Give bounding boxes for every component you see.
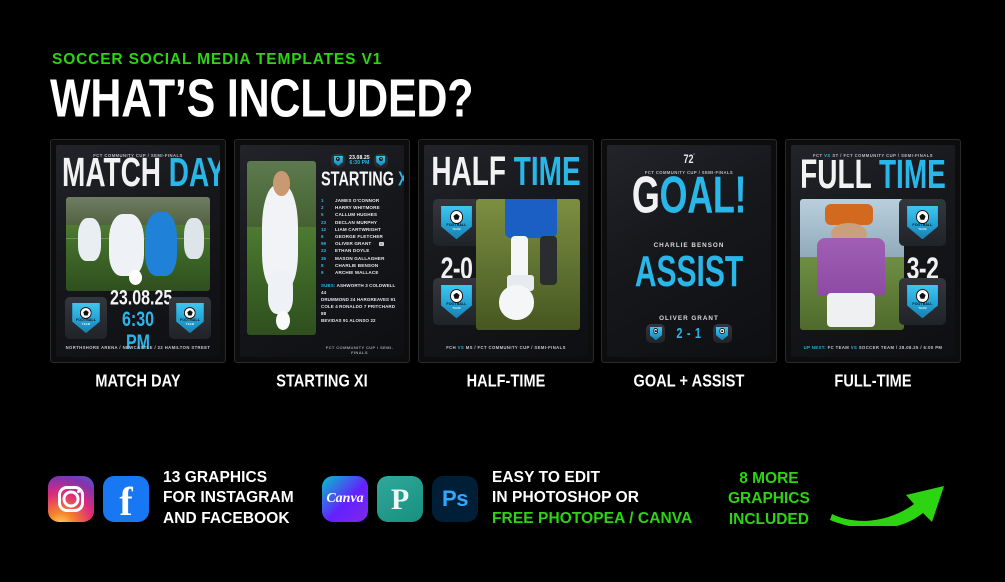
- list-item: 6GEORGE FLETCHER: [321, 233, 398, 240]
- bonus-line-3: INCLUDED: [728, 510, 810, 530]
- card1-title-white: MATCH: [62, 150, 161, 195]
- photoshop-icon[interactable]: Ps: [432, 476, 478, 522]
- card5-badge-home: FOOTBALL TEAM: [899, 199, 946, 246]
- player-number: 12: [321, 227, 330, 232]
- player-number: 8: [321, 263, 330, 268]
- curved-arrow-icon: [828, 468, 948, 531]
- list-item: 2HARRY WHITMORE: [321, 204, 398, 211]
- card-inner: HALF TIME FOOTBALL TEAM 2-0 FOOTBALL TEA…: [424, 145, 588, 357]
- player-name: MASON GALLAGHER: [335, 256, 385, 261]
- card4-goal-blue: OAL!: [660, 165, 747, 224]
- template-card-starting-xi[interactable]: 23.08.25 6:30 PM STARTING XI 1JAMES O’CO…: [234, 139, 410, 363]
- card2-header: 23.08.25 6:30 PM: [321, 153, 398, 169]
- badge-word2: TEAM: [904, 228, 941, 231]
- badge-word2: TEAM: [438, 228, 475, 231]
- card4-badge-away: [713, 324, 732, 343]
- player-name: JAMES O’CONNOR: [335, 198, 379, 203]
- card2-title-white: STARTING: [321, 169, 394, 191]
- card2-time: 6:30 PM: [349, 161, 370, 166]
- list-item: 23DECLAN MURPHY: [321, 219, 398, 226]
- card2-title: STARTING XI: [321, 169, 398, 191]
- card4-assist-text: ASSIST: [635, 248, 743, 296]
- card4-goal-white: G: [632, 165, 660, 224]
- footer-group-bonus: 8 MORE GRAPHICS INCLUDED: [728, 468, 948, 531]
- instagram-icon[interactable]: [48, 476, 94, 522]
- list-item: 12LIAM CARTWRIGHT: [321, 226, 398, 233]
- template-card-full-time[interactable]: FCT VS ST / FCT COMMUNITY CUP / SEMI-FIN…: [785, 139, 961, 363]
- photoshop-label: Ps: [442, 486, 468, 512]
- player-name: OLIVER GRANT: [335, 241, 371, 246]
- card1-date: 23.08.25: [110, 288, 166, 310]
- caption-row: MATCH DAY STARTING XI HALF-TIME GOAL + A…: [50, 374, 970, 396]
- caption-half-time: HALF-TIME: [418, 373, 594, 392]
- card-inner: FCT COMMUNITY CUP / SEMI-FINALS MATCH DA…: [56, 145, 220, 357]
- footer-group-social: f 13 GRAPHICS FOR INSTAGRAM AND FACEBOOK: [48, 468, 294, 529]
- card3-title: HALF TIME: [430, 156, 582, 189]
- card4-goal-title: GOAL!: [613, 173, 765, 216]
- card1-badge-left: FOOTBALL TEAM: [65, 297, 107, 339]
- badge-word: FOOTBALL: [904, 302, 941, 306]
- player-name: ETHAN DOYLE: [335, 248, 369, 253]
- badge-word: FOOTBALL: [174, 318, 207, 322]
- player-number: 35: [321, 256, 330, 261]
- subs-line: DRUMMOND 24 HARGREAVES 91: [321, 297, 396, 302]
- card5-footer: UP NEXT: FC TEAM VS SOCCER TEAM / 28.08.…: [791, 345, 955, 350]
- player-name: DECLAN MURPHY: [335, 220, 377, 225]
- card2-badge-left: [331, 154, 345, 168]
- player-number: 5: [321, 212, 330, 217]
- card2-title-blue: XI: [398, 169, 404, 191]
- player-number: 2: [321, 205, 330, 210]
- card5-title-blue: TIME: [879, 152, 946, 197]
- player-name: CALLUM HUGHES: [335, 212, 377, 217]
- card5-title-white: FULL: [800, 152, 871, 197]
- card1-title: MATCH DAY: [62, 157, 214, 190]
- player-number: 1: [321, 198, 330, 203]
- page-title: WHAT’S INCLUDED?: [50, 70, 473, 128]
- player-number: 99: [321, 241, 330, 246]
- card5-title: FULL TIME: [797, 159, 949, 192]
- card2-datetime: 23.08.25 6:30 PM: [349, 156, 370, 167]
- card3-badge-home: FOOTBALL TEAM: [433, 199, 480, 246]
- bonus-line-2: GRAPHICS: [728, 489, 810, 509]
- caption-match-day: MATCH DAY: [50, 373, 226, 392]
- list-item: 9ARCHIE WALLACE: [321, 269, 398, 276]
- player-name: CHARLIE BENSON: [335, 263, 378, 268]
- list-item: 23ETHAN DOYLE: [321, 247, 398, 254]
- card1-badge-right: FOOTBALL TEAM: [169, 297, 211, 339]
- footer-row: f 13 GRAPHICS FOR INSTAGRAM AND FACEBOOK…: [0, 460, 1005, 540]
- card5-footer-vs: VS: [851, 345, 857, 350]
- badge-word: FOOTBALL: [904, 223, 941, 227]
- player-number: 23: [321, 248, 330, 253]
- card5-footer-pre: FC TEAM: [828, 345, 850, 350]
- facebook-icon[interactable]: f: [103, 476, 149, 522]
- card3-footer-pre: FCH: [446, 345, 456, 350]
- card3-title-blue: TIME: [514, 149, 581, 194]
- card2-photo: [247, 161, 316, 335]
- caption-starting-xi: STARTING XI: [234, 373, 410, 392]
- card2-subs: SUBS: ASHWORTH 3 COLDWELL 44 DRUMMOND 24…: [321, 283, 398, 325]
- canva-label: Canva: [326, 491, 363, 507]
- editors-line-1: EASY TO EDIT: [492, 468, 692, 488]
- list-item: 1JAMES O’CONNOR: [321, 197, 398, 204]
- badge-word: FOOTBALL: [70, 318, 103, 322]
- card4-score: 2 - 1: [676, 326, 701, 342]
- template-card-half-time[interactable]: HALF TIME FOOTBALL TEAM 2-0 FOOTBALL TEA…: [418, 139, 594, 363]
- list-item: 35MASON GALLAGHER: [321, 255, 398, 262]
- card3-title-white: HALF: [431, 149, 506, 194]
- subs-line: BEVIDAS 91 ALONSO 22: [321, 318, 376, 323]
- card3-photo: [476, 199, 580, 330]
- caption-goal-assist: GOAL + ASSIST: [601, 373, 777, 392]
- badge-word2: TEAM: [904, 307, 941, 310]
- template-card-goal-assist[interactable]: 72′ FCT COMMUNITY CUP / SEMI-FINALS GOAL…: [601, 139, 777, 363]
- card4-assister: OLIVER GRANT: [607, 315, 771, 322]
- player-number: 9: [321, 270, 330, 275]
- template-card-match-day[interactable]: FCT COMMUNITY CUP / SEMI-FINALS MATCH DA…: [50, 139, 226, 363]
- template-card-row: FCT COMMUNITY CUP / SEMI-FINALS MATCH DA…: [50, 139, 970, 363]
- list-item: 5CALLUM HUGHES: [321, 211, 398, 218]
- card5-badge-away: FOOTBALL TEAM: [899, 278, 946, 325]
- card1-title-blue: DAY: [169, 150, 220, 195]
- card5-footer-post: SOCCER TEAM / 28.08.25 / 6:00 PM: [859, 345, 943, 350]
- social-line-3: AND FACEBOOK: [163, 509, 294, 529]
- card4-badge-home: [646, 324, 665, 343]
- card3-footer: FCH VS MS / FCT COMMUNITY CUP / SEMI-FIN…: [424, 345, 588, 350]
- badge-word: FOOTBALL: [438, 223, 475, 227]
- photopea-icon[interactable]: P: [377, 476, 423, 522]
- photopea-label: P: [391, 485, 409, 515]
- card-inner: FCT VS ST / FCT COMMUNITY CUP / SEMI-FIN…: [791, 145, 955, 357]
- editors-line-3: FREE PHOTOPEA / CANVA: [492, 509, 692, 529]
- card1-photo: [66, 197, 210, 291]
- list-item: 99OLIVER GRANTC: [321, 240, 398, 247]
- card1-footer: NORTHSHORE ARENA / NEWCASTLE / 22 HAMILT…: [56, 345, 220, 350]
- captain-badge: C: [379, 242, 383, 246]
- player-name: HARRY WHITMORE: [335, 205, 380, 210]
- player-name: GEORGE FLETCHER: [335, 234, 383, 239]
- card2-footer: FCT COMMUNITY CUP / SEMI-FINALS: [321, 345, 398, 355]
- player-name: LIAM CARTWRIGHT: [335, 227, 381, 232]
- card2-badge-right: [374, 154, 388, 168]
- card2-lineup-list: 1JAMES O’CONNOR 2HARRY WHITMORE 5CALLUM …: [321, 197, 398, 276]
- card4-assist-title: ASSIST: [613, 255, 765, 291]
- badge-word2: TEAM: [174, 323, 207, 326]
- card-inner: 23.08.25 6:30 PM STARTING XI 1JAMES O’CO…: [240, 145, 404, 357]
- canva-icon[interactable]: Canva: [322, 476, 368, 522]
- subs-label: SUBS:: [321, 283, 335, 288]
- eyebrow-text: SOCCER SOCIAL MEDIA TEMPLATES V1: [52, 51, 382, 69]
- footer-bonus-text: 8 MORE GRAPHICS INCLUDED: [728, 469, 810, 530]
- social-line-1: 13 GRAPHICS: [163, 468, 294, 488]
- card4-minute-mark: ′: [693, 153, 694, 160]
- badge-word2: TEAM: [438, 307, 475, 310]
- caption-full-time: FULL-TIME: [785, 373, 961, 392]
- card-inner: 72′ FCT COMMUNITY CUP / SEMI-FINALS GOAL…: [607, 145, 771, 357]
- card3-badge-away: FOOTBALL TEAM: [433, 278, 480, 325]
- social-line-2: FOR INSTAGRAM: [163, 488, 294, 508]
- footer-group-editors: Canva P Ps EASY TO EDIT IN PHOTOSHOP OR …: [322, 468, 692, 529]
- card4-minute-value: 72: [683, 153, 693, 166]
- card3-footer-post: MS / FCT COMMUNITY CUP / SEMI-FINALS: [466, 345, 566, 350]
- footer-social-text: 13 GRAPHICS FOR INSTAGRAM AND FACEBOOK: [163, 468, 294, 529]
- card5-photo: [800, 199, 904, 330]
- player-number: 6: [321, 234, 330, 239]
- slide-canvas: SOCCER SOCIAL MEDIA TEMPLATES V1 WHAT’S …: [0, 0, 1005, 582]
- subs-line: COLE 4 RONALDO 7 PRITCHARD 88: [321, 304, 395, 316]
- card2-content: 23.08.25 6:30 PM STARTING XI 1JAMES O’CO…: [321, 153, 398, 343]
- footer-editors-text: EASY TO EDIT IN PHOTOSHOP OR FREE PHOTOP…: [492, 468, 692, 529]
- bonus-line-1: 8 MORE: [728, 469, 810, 489]
- card4-scorebar: 2 - 1: [607, 324, 771, 343]
- badge-word2: TEAM: [70, 323, 103, 326]
- player-number: 23: [321, 220, 330, 225]
- badge-word: FOOTBALL: [438, 302, 475, 306]
- card5-footer-label: UP NEXT:: [804, 345, 826, 350]
- player-name: ARCHIE WALLACE: [335, 270, 379, 275]
- card3-footer-vs: VS: [458, 345, 464, 350]
- card4-minute: 72′: [607, 153, 771, 166]
- list-item: 8CHARLIE BENSON: [321, 262, 398, 269]
- editors-line-2: IN PHOTOSHOP OR: [492, 488, 692, 508]
